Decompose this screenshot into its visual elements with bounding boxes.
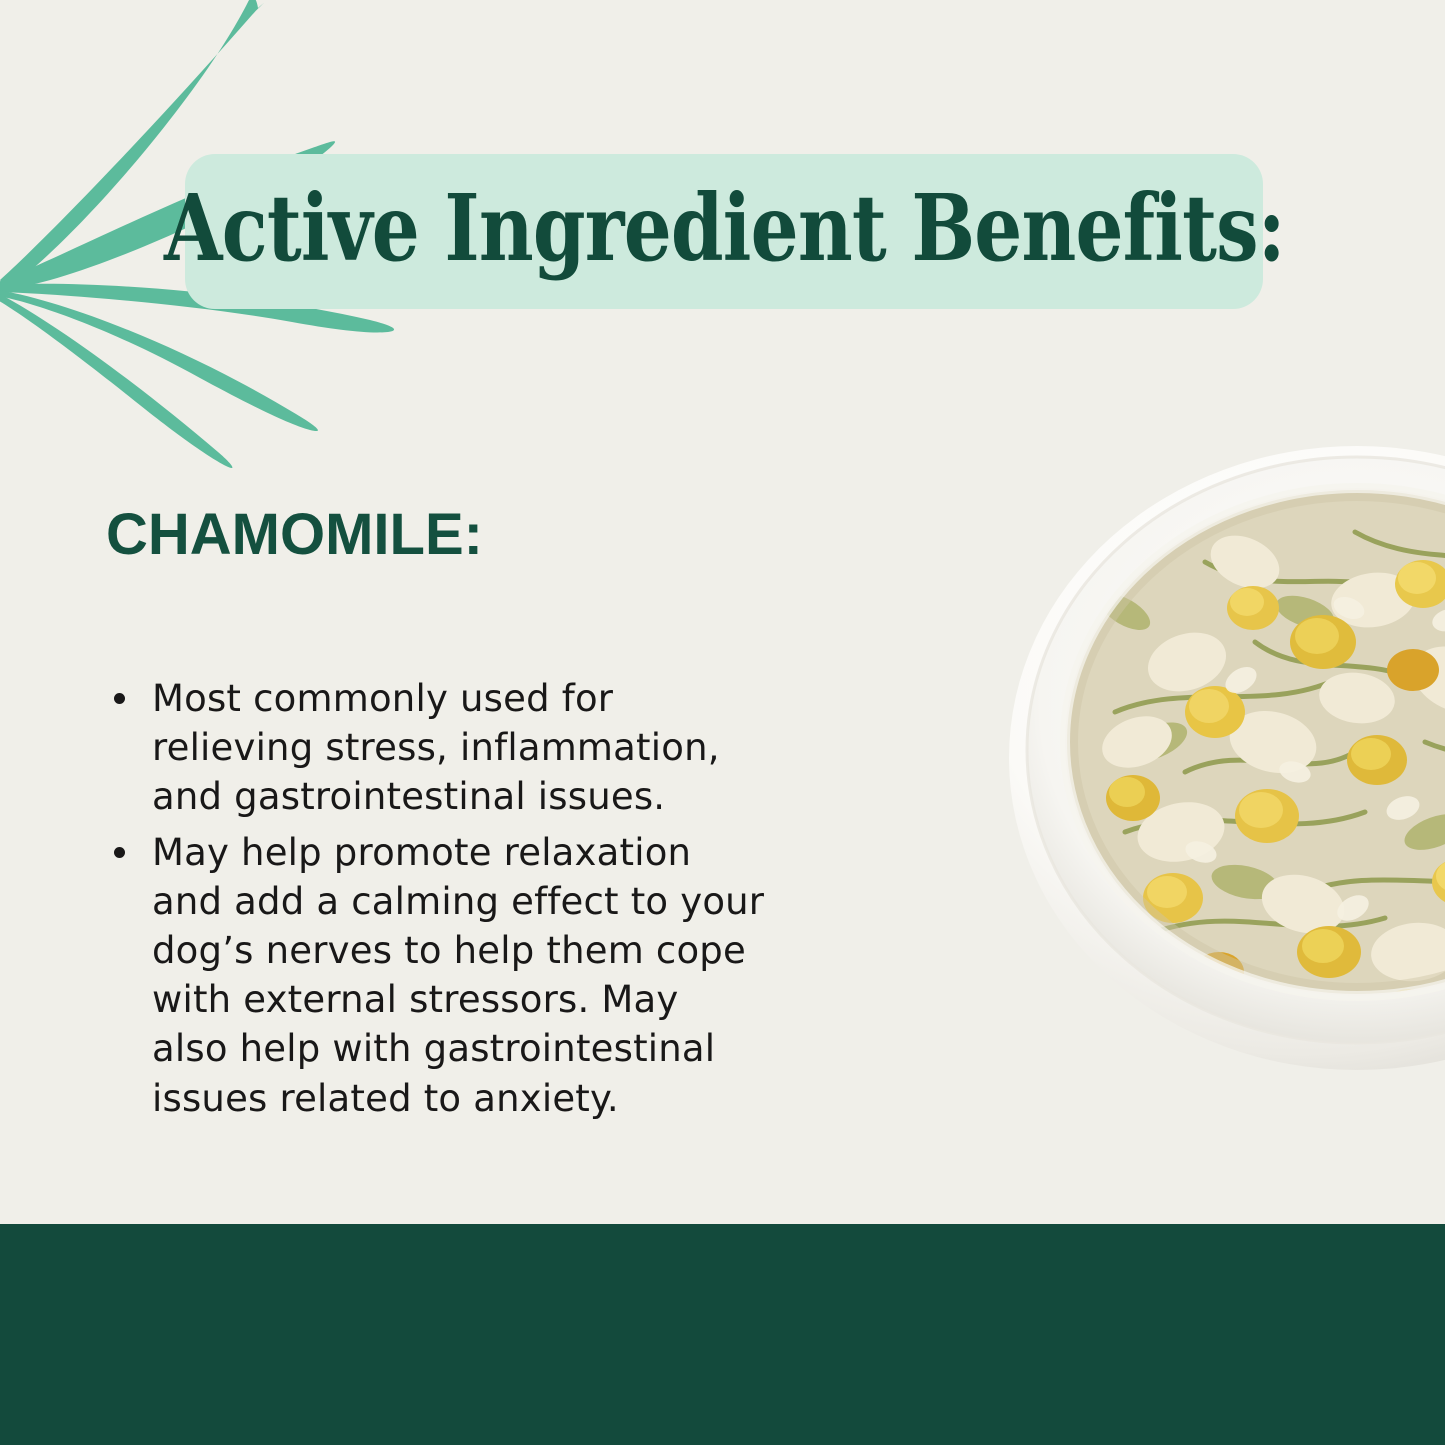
bottom-green-band — [0, 1224, 1445, 1445]
ingredient-name: CHAMOMILE: — [106, 505, 766, 566]
list-item: May help promote relaxation and add a ca… — [106, 828, 766, 1123]
slide-canvas: Active Ingredient Benefits: — [0, 0, 1445, 1445]
content-column: CHAMOMILE: Most commonly used for reliev… — [106, 505, 766, 1129]
bowl-of-dried-chamomile-flowers — [1005, 412, 1445, 1112]
page-title: Active Ingredient Benefits: — [164, 182, 1285, 282]
list-item: Most commonly used for relieving stress,… — [106, 674, 766, 822]
benefit-list: Most commonly used for relieving stress,… — [106, 674, 766, 1123]
title-pill: Active Ingredient Benefits: — [185, 154, 1263, 309]
